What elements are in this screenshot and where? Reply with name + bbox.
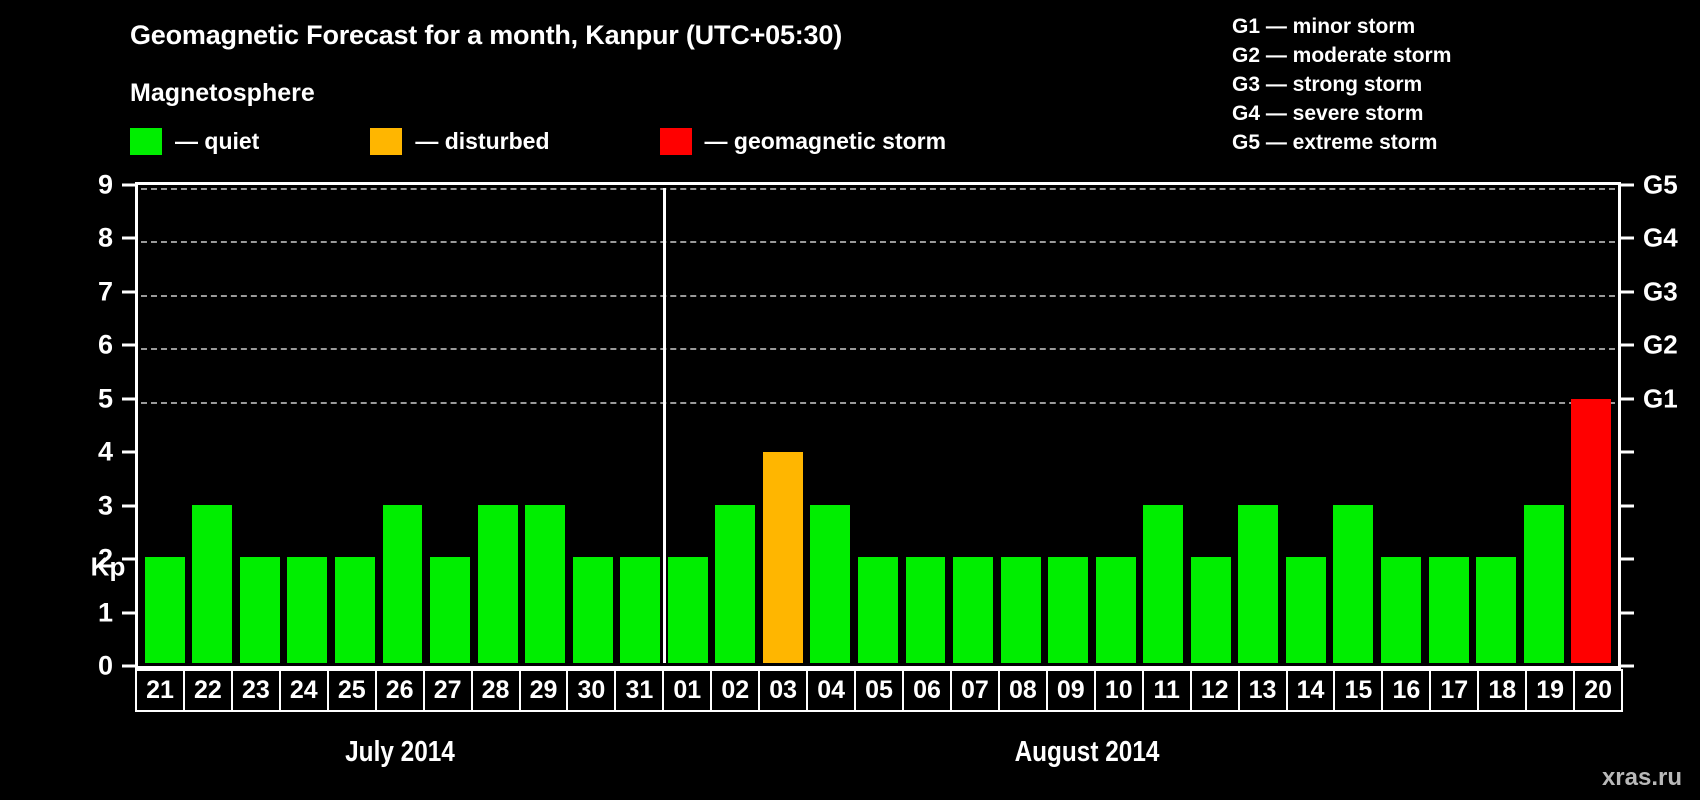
kp-axis-tick <box>122 344 135 347</box>
month-separator-line <box>663 188 666 663</box>
date-cell[interactable]: 01 <box>662 669 712 712</box>
bar-cell[interactable] <box>1139 188 1187 663</box>
date-cell[interactable]: 02 <box>710 669 760 712</box>
bar-cell[interactable] <box>426 188 474 663</box>
date-cell[interactable]: 27 <box>423 669 473 712</box>
bar-series <box>141 188 1615 663</box>
date-cell[interactable]: 24 <box>279 669 329 712</box>
storm-axis-tick <box>1621 611 1634 614</box>
bar[interactable] <box>478 505 518 663</box>
storm-scale-legend: G1 — minor stormG2 — moderate stormG3 — … <box>1232 12 1451 157</box>
legend-color-swatch <box>370 128 402 155</box>
bar-cell[interactable] <box>284 188 332 663</box>
bar[interactable] <box>810 505 850 663</box>
storm-scale-line: G3 — strong storm <box>1232 70 1451 99</box>
storm-axis-label: G3 <box>1643 276 1678 307</box>
kp-axis-tick <box>122 611 135 614</box>
bar[interactable] <box>1048 557 1088 663</box>
bar[interactable] <box>1333 505 1373 663</box>
date-cell[interactable]: 05 <box>854 669 904 712</box>
magnetosphere-legend: — quiet— disturbed— geomagnetic storm <box>130 127 946 155</box>
storm-axis-tick <box>1621 290 1634 293</box>
bar[interactable] <box>668 557 708 663</box>
kp-axis-tick <box>122 290 135 293</box>
date-cell[interactable]: 31 <box>614 669 664 712</box>
legend-item-label: — disturbed <box>415 128 549 155</box>
bar-cell[interactable] <box>1044 188 1092 663</box>
page-title: Geomagnetic Forecast for a month, Kanpur… <box>130 20 842 51</box>
bar[interactable] <box>906 557 946 663</box>
bar[interactable] <box>620 557 660 663</box>
bar[interactable] <box>763 452 803 663</box>
legend-item: — quiet <box>130 128 259 155</box>
date-cell[interactable]: 25 <box>327 669 377 712</box>
storm-axis-label: G1 <box>1643 383 1678 414</box>
bar-cell[interactable] <box>1187 188 1235 663</box>
bar-cell[interactable] <box>997 188 1045 663</box>
bar[interactable] <box>1001 557 1041 663</box>
bar-cell[interactable] <box>1282 188 1330 663</box>
date-cell[interactable]: 07 <box>950 669 1000 712</box>
bar[interactable] <box>240 557 280 663</box>
bar-cell[interactable] <box>1472 188 1520 663</box>
kp-axis-tick-label: 4 <box>98 439 113 466</box>
bar[interactable] <box>1096 557 1136 663</box>
bar[interactable] <box>145 557 185 663</box>
kp-axis-tick-label: 7 <box>98 278 113 305</box>
bar[interactable] <box>1524 505 1564 663</box>
legend-item: — geomagnetic storm <box>660 128 947 155</box>
kp-axis-tick <box>122 665 135 668</box>
bar[interactable] <box>858 557 898 663</box>
legend-item: — disturbed <box>370 128 549 155</box>
storm-scale-line: G4 — severe storm <box>1232 99 1451 128</box>
storm-axis-tick <box>1621 665 1634 668</box>
kp-axis-tick-label: 5 <box>98 385 113 412</box>
storm-axis-tick <box>1621 504 1634 507</box>
bar[interactable] <box>1286 557 1326 663</box>
bar-cell[interactable] <box>616 188 664 663</box>
bar[interactable] <box>335 557 375 663</box>
bar-cell[interactable] <box>1520 188 1568 663</box>
bar-cell[interactable] <box>379 188 427 663</box>
plot-area <box>135 182 1621 669</box>
kp-axis-tick <box>122 397 135 400</box>
date-cell[interactable]: 20 <box>1573 669 1623 712</box>
date-cell[interactable]: 09 <box>1046 669 1096 712</box>
date-cell[interactable]: 15 <box>1333 669 1383 712</box>
bar[interactable] <box>1191 557 1231 663</box>
bar-cell[interactable] <box>1377 188 1425 663</box>
date-cell[interactable]: 11 <box>1142 669 1192 712</box>
storm-axis-label: G4 <box>1643 223 1678 254</box>
bar[interactable] <box>953 557 993 663</box>
date-cell[interactable]: 18 <box>1477 669 1527 712</box>
kp-axis-tick-label: 1 <box>98 599 113 626</box>
date-cell[interactable]: 10 <box>1094 669 1144 712</box>
watermark: xras.ru <box>1602 764 1682 792</box>
bar-cell[interactable] <box>569 188 617 663</box>
kp-axis-tick-label: 2 <box>98 546 113 573</box>
bar[interactable] <box>525 505 565 663</box>
kp-axis-tick-label: 3 <box>98 492 113 519</box>
bar[interactable] <box>287 557 327 663</box>
date-cell[interactable]: 30 <box>566 669 616 712</box>
bar-cell[interactable] <box>759 188 807 663</box>
bar[interactable] <box>715 505 755 663</box>
legend-item-label: — geomagnetic storm <box>705 128 947 155</box>
date-cell[interactable]: 13 <box>1238 669 1288 712</box>
bar-cell[interactable] <box>949 188 997 663</box>
storm-axis-tick <box>1621 397 1634 400</box>
bar[interactable] <box>1476 557 1516 663</box>
date-cell[interactable]: 08 <box>998 669 1048 712</box>
storm-axis-tick <box>1621 558 1634 561</box>
date-cell[interactable]: 21 <box>135 669 185 712</box>
bar[interactable] <box>383 505 423 663</box>
bar-cell[interactable] <box>1235 188 1283 663</box>
storm-axis-label: G5 <box>1643 170 1678 201</box>
kp-axis-tick <box>122 504 135 507</box>
date-cell[interactable]: 26 <box>375 669 425 712</box>
storm-axis-tick <box>1621 451 1634 454</box>
bar[interactable] <box>1143 505 1183 663</box>
kp-axis-tick <box>122 451 135 454</box>
bar-cell[interactable] <box>236 188 284 663</box>
date-cell[interactable]: 03 <box>758 669 808 712</box>
legend-color-swatch <box>660 128 692 155</box>
bar[interactable] <box>430 557 470 663</box>
date-axis: 2122232425262728293031010203040506070809… <box>135 669 1621 712</box>
bar-cell[interactable] <box>664 188 712 663</box>
bar[interactable] <box>1571 399 1611 663</box>
storm-axis-tick <box>1621 184 1634 187</box>
bar-cell[interactable] <box>331 188 379 663</box>
legend-color-swatch <box>130 128 162 155</box>
bar-cell[interactable] <box>474 188 522 663</box>
month-label-august: August 2014 <box>986 736 1188 769</box>
date-cell[interactable]: 23 <box>231 669 281 712</box>
legend-heading: Magnetosphere <box>130 79 315 108</box>
date-cell[interactable]: 22 <box>183 669 233 712</box>
plot-inner <box>141 188 1615 663</box>
date-cell[interactable]: 12 <box>1190 669 1240 712</box>
kp-axis-tick-label: 6 <box>98 332 113 359</box>
legend-item-label: — quiet <box>175 128 259 155</box>
storm-scale-line: G1 — minor storm <box>1232 12 1451 41</box>
kp-axis-tick-label: 0 <box>98 653 113 680</box>
bar[interactable] <box>1238 505 1278 663</box>
storm-level-axis: G1G2G3G4G5 <box>1621 182 1700 669</box>
date-cell[interactable]: 06 <box>902 669 952 712</box>
bar-cell[interactable] <box>141 188 189 663</box>
kp-axis-tick <box>122 184 135 187</box>
date-cell[interactable]: 29 <box>519 669 569 712</box>
storm-axis-label: G2 <box>1643 330 1678 361</box>
bar-cell[interactable] <box>902 188 950 663</box>
date-cell[interactable]: 04 <box>806 669 856 712</box>
bar-cell[interactable] <box>1330 188 1378 663</box>
date-cell[interactable]: 28 <box>471 669 521 712</box>
kp-axis-tick <box>122 237 135 240</box>
bar-cell[interactable] <box>1425 188 1473 663</box>
kp-axis-tick <box>122 558 135 561</box>
storm-scale-line: G5 — extreme storm <box>1232 128 1451 157</box>
storm-axis-tick <box>1621 237 1634 240</box>
date-cell[interactable]: 14 <box>1286 669 1336 712</box>
bar-cell[interactable] <box>1092 188 1140 663</box>
bar[interactable] <box>573 557 613 663</box>
geomagnetic-forecast-chart: Geomagnetic Forecast for a month, Kanpur… <box>0 0 1700 800</box>
bar-cell[interactable] <box>807 188 855 663</box>
date-cell[interactable]: 17 <box>1429 669 1479 712</box>
storm-axis-tick <box>1621 344 1634 347</box>
month-label-july: July 2014 <box>316 736 484 769</box>
bar-cell[interactable] <box>712 188 760 663</box>
kp-axis-tick-label: 8 <box>98 225 113 252</box>
bar-cell[interactable] <box>521 188 569 663</box>
date-cell[interactable]: 19 <box>1525 669 1575 712</box>
bar-cell[interactable] <box>854 188 902 663</box>
bar-cell[interactable] <box>189 188 237 663</box>
bar[interactable] <box>192 505 232 663</box>
bar[interactable] <box>1381 557 1421 663</box>
bar[interactable] <box>1429 557 1469 663</box>
storm-scale-line: G2 — moderate storm <box>1232 41 1451 70</box>
kp-axis-tick-label: 9 <box>98 172 113 199</box>
bar-cell[interactable] <box>1567 188 1615 663</box>
date-cell[interactable]: 16 <box>1381 669 1431 712</box>
kp-axis: Kp 0123456789 <box>72 182 135 669</box>
